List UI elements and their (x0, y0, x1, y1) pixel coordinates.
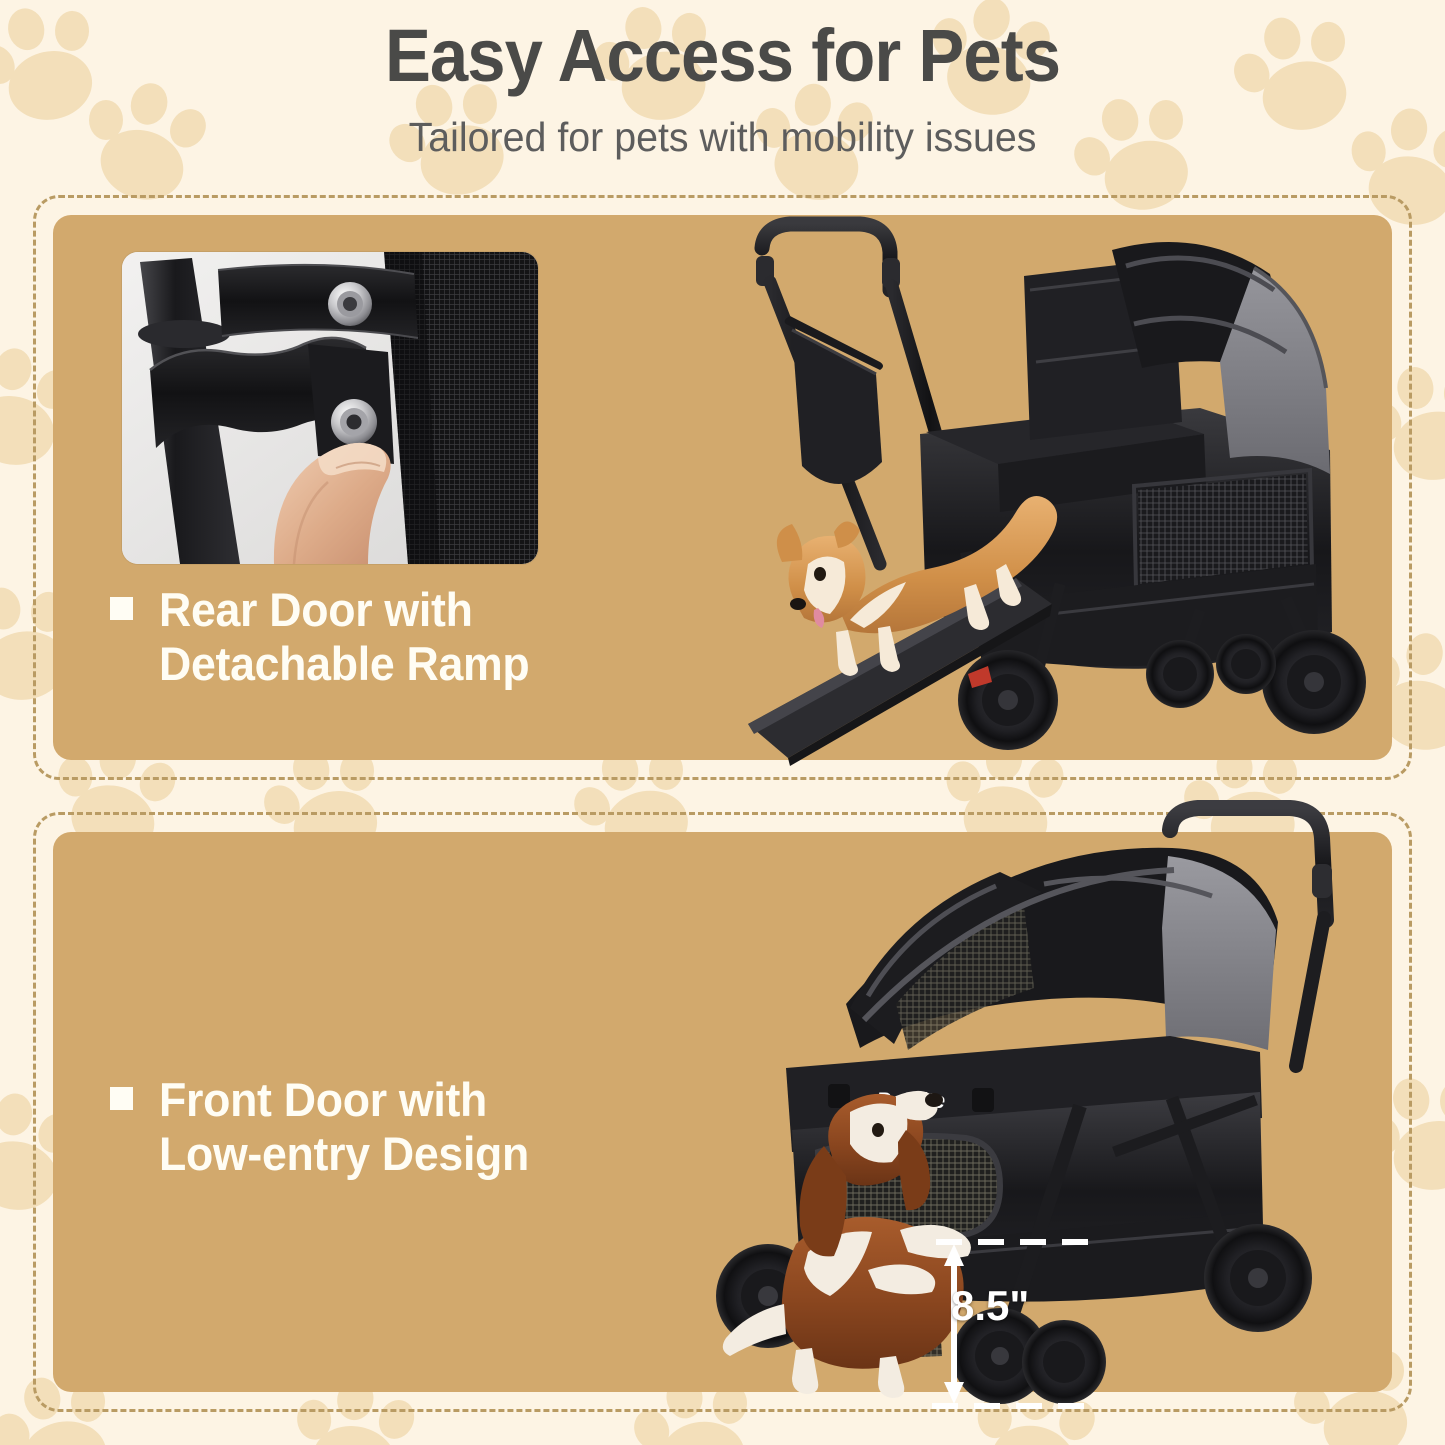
page-subtitle: Tailored for pets with mobility issues (29, 114, 1416, 160)
wheel (1216, 634, 1276, 694)
stroller-front-door-image: Petsite (700, 800, 1400, 1412)
caption-front-door-label: Front Door with Low-entry Design (159, 1073, 529, 1181)
wheel (1146, 640, 1214, 708)
wheel (1262, 630, 1366, 734)
square-bullet-icon (110, 1087, 133, 1110)
stroller-with-ramp-image (730, 212, 1400, 768)
header: Easy Access for Pets Tailored for pets w… (0, 16, 1445, 160)
entry-height-label: 8.5" (951, 1282, 1029, 1330)
wheel (958, 650, 1058, 750)
page-title: Easy Access for Pets (51, 16, 1395, 96)
wheel (1022, 1320, 1106, 1404)
square-bullet-icon (110, 597, 133, 620)
caption-rear-door-label: Rear Door with Detachable Ramp (159, 583, 529, 691)
caption-rear-door: Rear Door with Detachable Ramp (110, 583, 549, 691)
strap-snap-closeup-photo (122, 252, 538, 564)
caption-front-door: Front Door with Low-entry Design (110, 1073, 549, 1181)
wheel (1204, 1224, 1312, 1332)
